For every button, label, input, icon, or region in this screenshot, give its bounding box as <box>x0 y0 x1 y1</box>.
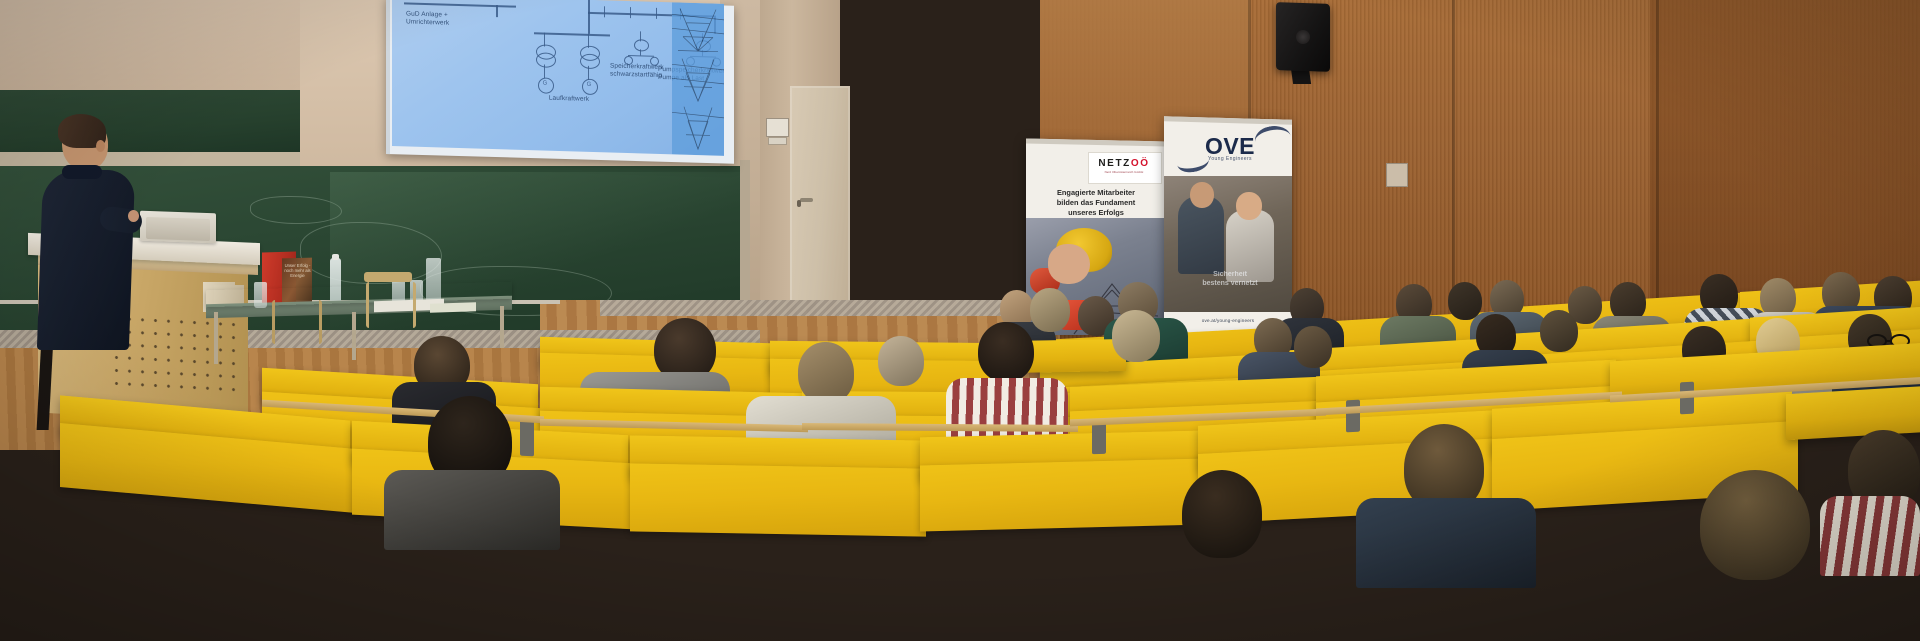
papers-on-table-2 <box>430 302 476 313</box>
chair-legs <box>366 282 416 328</box>
audience-head <box>1030 288 1070 332</box>
door-sign-secondary <box>768 137 787 145</box>
worker-face <box>1048 244 1090 284</box>
bench-row-front-right[interactable] <box>630 463 926 536</box>
slide-label-gud: GuD Anlage + Umrichterwerk <box>406 10 496 29</box>
speaker-collar <box>62 165 102 179</box>
netz-brand-text: NETZ <box>1098 158 1131 169</box>
audience-body-front <box>384 470 560 550</box>
bench-row-front-far[interactable] <box>920 459 1206 532</box>
netz-wordmark: NETZOÖ <box>1090 158 1158 169</box>
bottle-cap <box>332 254 339 260</box>
audience-head <box>1112 310 1160 362</box>
chair-back <box>364 272 412 282</box>
drinking-glass <box>254 282 267 308</box>
audience-head-dark <box>978 322 1034 382</box>
stage-edge-tread-upper <box>600 300 1060 316</box>
netz-subline: Netz Oberösterreich GmbH <box>1090 170 1158 174</box>
audience-head-front-3 <box>1700 470 1810 580</box>
drinking-glass-tall <box>426 258 441 302</box>
lecture-hall-photo: G G GuD Anlage + Umrichterwerk Laufkraft… <box>0 0 1920 641</box>
laptop-screen <box>146 217 210 241</box>
audience-head <box>798 342 854 404</box>
projection-screen: G G GuD Anlage + Umrichterwerk Laufkraft… <box>392 0 724 156</box>
slide-label-laufkraftwerk: Laufkraftwerk <box>528 94 610 104</box>
wall-socket-plate <box>1386 163 1408 187</box>
netz-claim: Engagierte Mitarbeiter bilden das Fundam… <box>1030 188 1162 218</box>
table-leg <box>214 312 218 364</box>
audience-body-front-2 <box>1356 498 1536 588</box>
loudspeaker-cone-icon <box>1296 30 1310 44</box>
engineer-male-head <box>1190 182 1214 208</box>
door-sign <box>766 118 789 137</box>
table-leg <box>352 312 356 360</box>
speaker-hand <box>128 210 139 222</box>
audience-head-front-5 <box>1182 470 1262 558</box>
speaker-ear <box>96 140 105 152</box>
table-leg <box>500 306 504 348</box>
audience-head <box>1294 326 1332 368</box>
seat-bracket <box>520 420 534 457</box>
audience-head <box>878 336 924 386</box>
ove-banner-photo <box>1164 176 1292 312</box>
seat-bracket <box>1346 400 1360 433</box>
ove-overlay-claim: Sicherheit bestens vernetzt <box>1178 270 1282 288</box>
chalkboard-upper <box>0 90 300 156</box>
transmission-tower-graphic <box>672 2 724 156</box>
audience-body-striped-2 <box>1820 496 1920 576</box>
wood-seam <box>1656 0 1659 320</box>
chalkboard-upper-ledge <box>0 152 300 166</box>
wood-seam <box>1452 0 1455 330</box>
speaker-torso <box>37 170 135 350</box>
door-handle[interactable] <box>800 198 813 202</box>
gift-bag-label: Unser Erfolg - noch mehr als Energie <box>283 263 312 278</box>
ove-subline: Young Engineers <box>1178 156 1282 162</box>
chair-legs-2 <box>272 300 322 344</box>
audience-head <box>1540 310 1578 352</box>
desk-row-front-far4[interactable] <box>1786 386 1920 441</box>
engineer-female-head <box>1236 192 1262 220</box>
door-lock-icon <box>797 200 801 207</box>
netz-brand-accent: OÖ <box>1131 158 1150 169</box>
